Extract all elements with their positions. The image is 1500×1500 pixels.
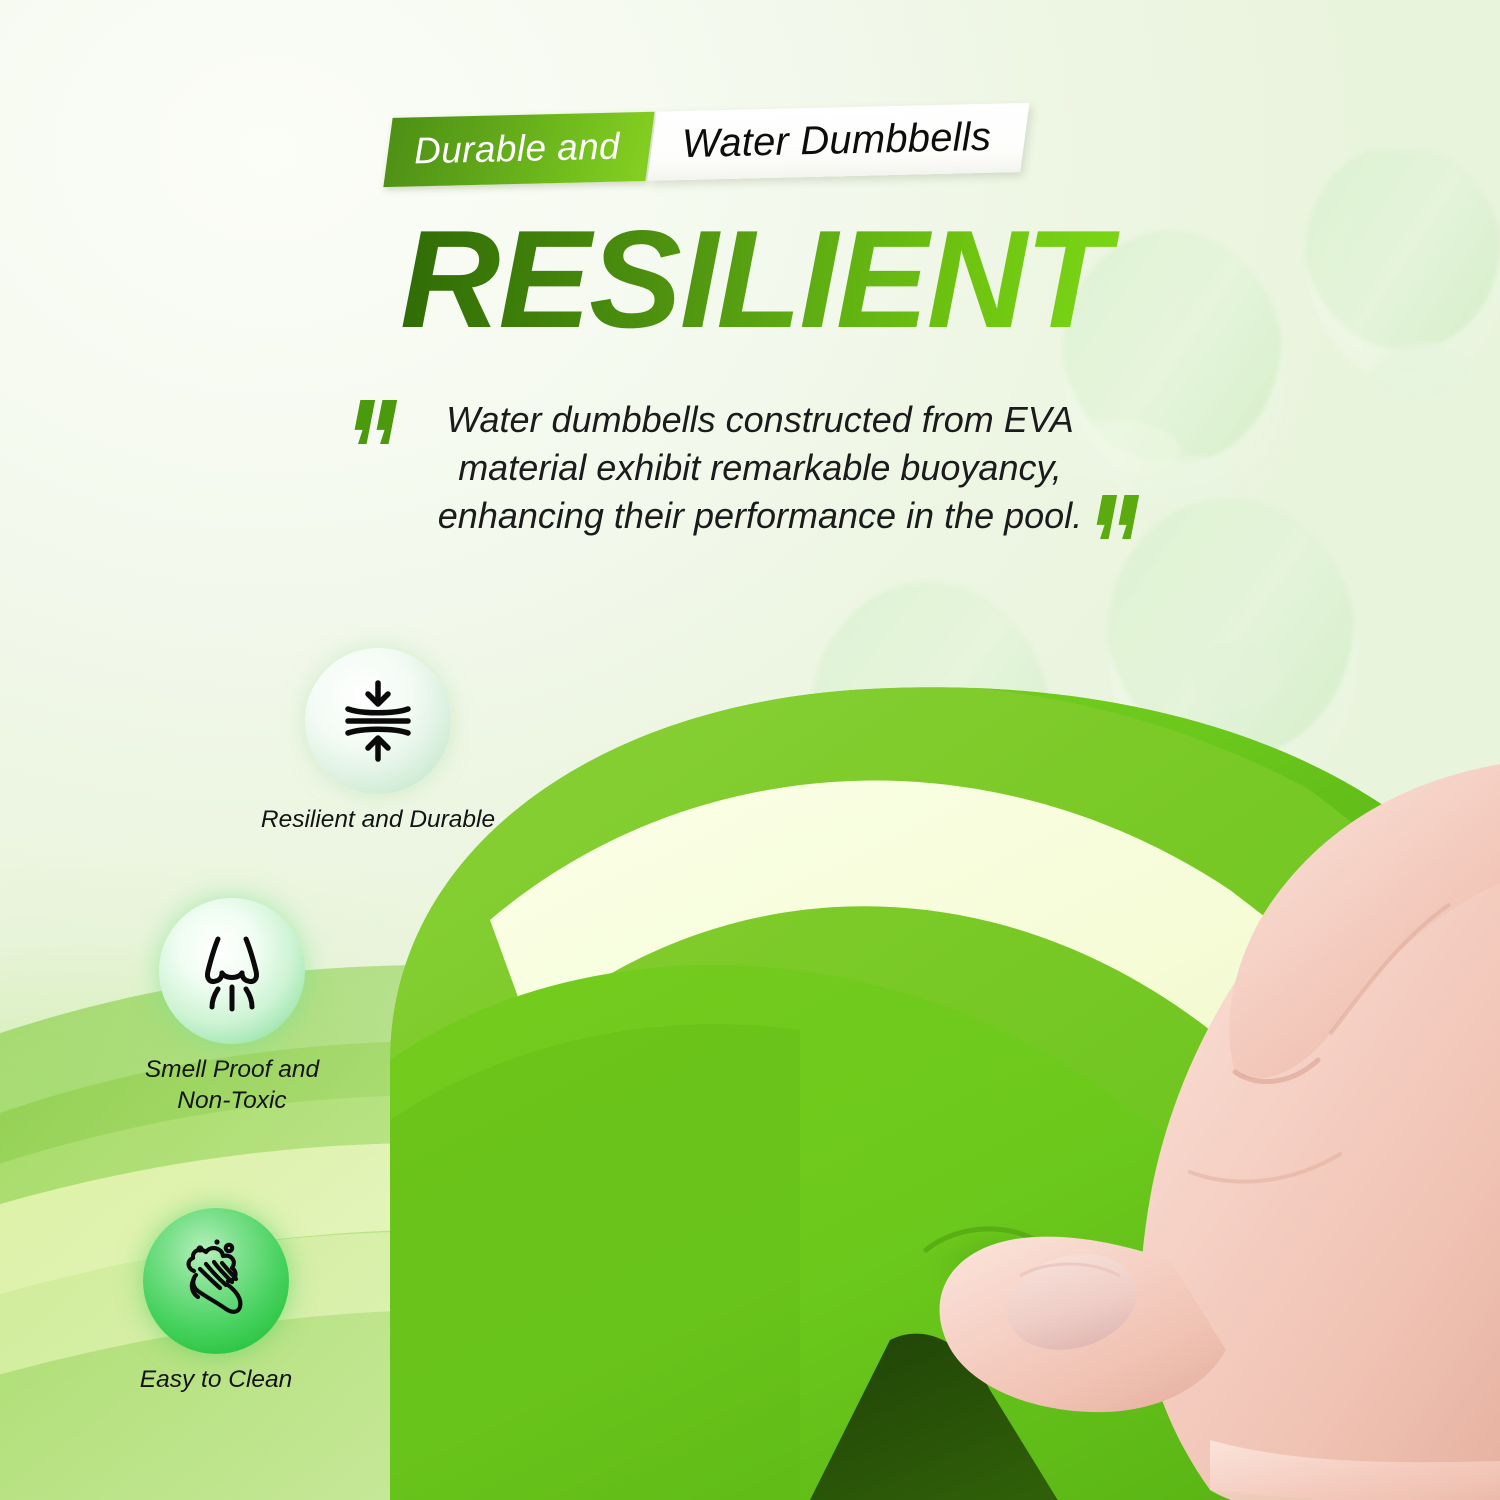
feature-badge-circle [305,648,451,794]
page-title: RESILIENT [400,210,1160,349]
feature-badge-circle [143,1208,289,1354]
banner-tag-label: Durable and [414,125,621,172]
feature-badge-circle [159,898,305,1044]
feature-easy-to-clean: Easy to Clean [66,1208,366,1396]
banner-tag-box: Durable and [383,112,654,187]
banner-title-label: Water Dumbbells [682,115,992,167]
quote-open-mark-icon [356,400,400,449]
nose-smell-icon [188,927,276,1015]
feature-label: Smell Proof and Non-Toxic [82,1055,382,1117]
feature-smell-proof-non-toxic: Smell Proof and Non-Toxic [82,898,382,1117]
quote-text: Water dumbbells constructed from EVA mat… [410,396,1110,540]
header-banner: Durable and Water Dumbbells [387,103,1025,187]
feature-resilient-and-durable: Resilient and Durable [228,648,528,836]
quote-block: Water dumbbells constructed from EVA mat… [356,396,1146,540]
feature-label: Resilient and Durable [228,805,528,836]
quote-close-mark-icon [1098,495,1142,544]
compression-arrows-icon [332,675,424,767]
product-marketing-image: Durable and Water Dumbbells RESILIENT Wa… [0,0,1500,1500]
banner-title-box: Water Dumbbells [647,103,1029,181]
washing-hands-icon [170,1235,262,1327]
feature-label: Easy to Clean [66,1365,366,1396]
